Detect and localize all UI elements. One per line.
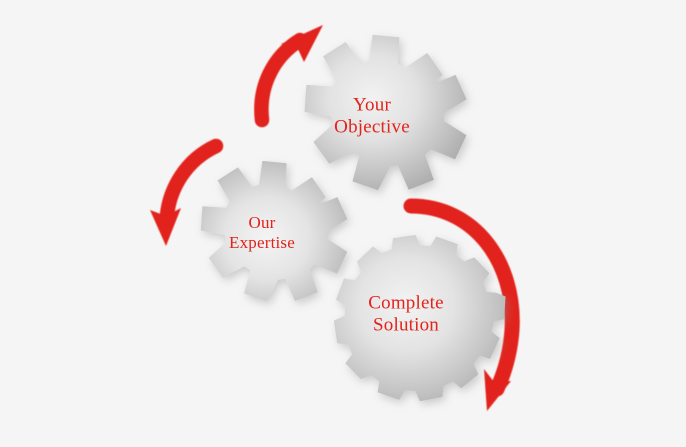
your-objective-gear (305, 35, 467, 190)
gear-diagram-svg (0, 0, 686, 447)
diagram-canvas: Your Objective Our Expertise Complete So… (0, 0, 686, 447)
our-expertise-gear (201, 161, 347, 302)
complete-solution-gear (334, 235, 506, 401)
